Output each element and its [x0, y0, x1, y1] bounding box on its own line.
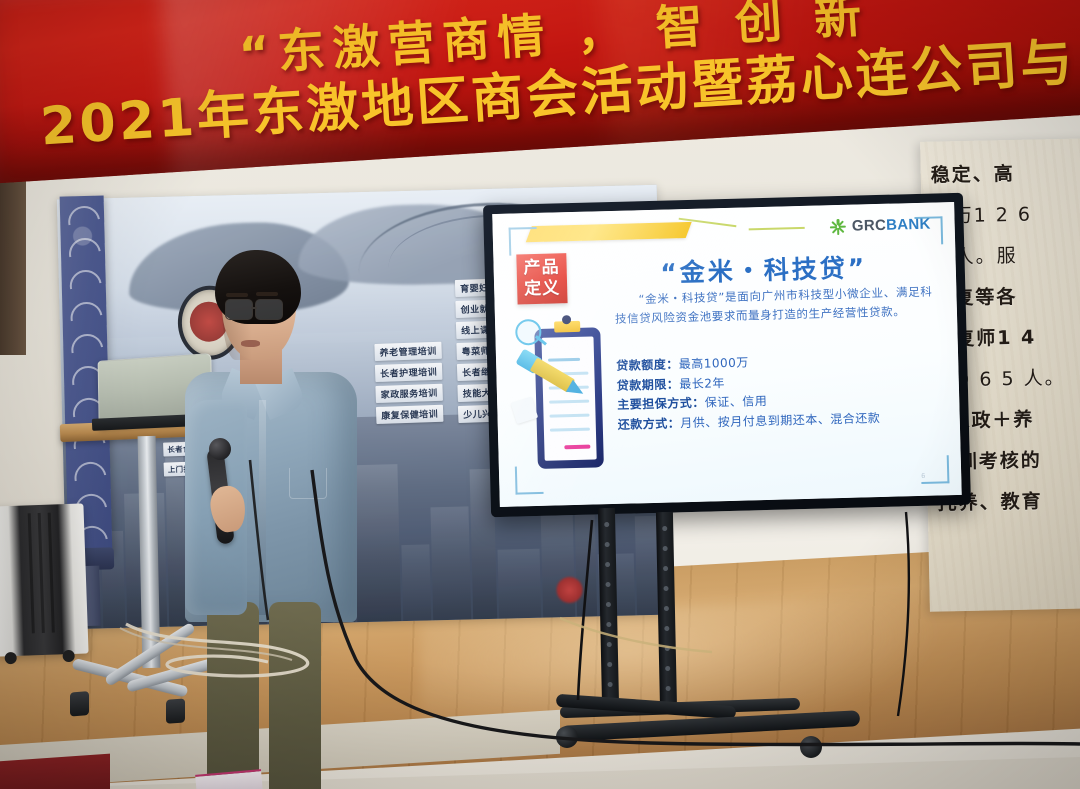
stand-post-hole: [662, 526, 667, 531]
stand-post-hole: [665, 646, 670, 651]
mural-program-tag: 家政服务培训: [375, 384, 443, 403]
logo-rule: [749, 227, 805, 230]
photo-scene: 稳定、高学历1 2 65 人。服康复等各康复师1 41 9 6 5 人。“家政＋…: [0, 0, 1080, 789]
badge-line-2: 定义: [524, 278, 561, 300]
speaker-shirt-pocket: [289, 468, 327, 499]
clipboard-paper: [541, 336, 596, 460]
slide-bullet-label: 贷款额度：: [616, 357, 679, 373]
slide-page-number: 6: [921, 473, 925, 480]
stand-post-hole: [663, 546, 668, 551]
speaker-shirt-placket: [259, 400, 266, 615]
radiator-heater: [0, 503, 89, 656]
grcbank-logo: GRCBANK: [830, 216, 931, 236]
mural-building: [430, 506, 471, 620]
stand-post-hole: [605, 582, 610, 587]
stand-post-hole: [608, 682, 613, 687]
slide-bullet-value: 保证、信用: [705, 394, 768, 410]
speaker-legs: [207, 602, 337, 789]
speaker-glasses-left: [225, 299, 253, 320]
stand-post-hole: [607, 642, 612, 647]
stand-post-hole: [605, 562, 610, 567]
mural-program-tag: 康复保健培训: [376, 405, 444, 424]
speaker-glasses-bridge: [251, 307, 257, 309]
slide-bullet-label: 主要担保方式：: [617, 396, 705, 412]
slide: GRCBANK 产品 定义: [492, 202, 962, 507]
speaker-mouth: [241, 340, 260, 347]
badge-line-1: 产品: [523, 257, 560, 279]
clipboard-illustration: [509, 311, 617, 486]
slide-yellow-ribbon: [526, 222, 692, 242]
product-definition-badge: 产品 定义: [516, 253, 567, 304]
logo-text-bank: BANK: [886, 216, 931, 234]
stand-post-hole: [606, 602, 611, 607]
mural-building: [353, 464, 401, 622]
stand-post-hole: [665, 666, 670, 671]
stand-post-hole: [664, 626, 669, 631]
tv-stand-wheel-right: [800, 736, 822, 758]
poster-line: 稳定、高: [930, 152, 1080, 196]
stand-post-hole: [663, 586, 668, 591]
starburst-icon: [830, 218, 847, 235]
slide-bullet-value: 月供、按月付息到期还本、混合还款: [680, 411, 880, 430]
slide-bullet-list: 贷款额度：最高1000万贷款期限：最长2年主要担保方式：保证、信用还款方式：月供…: [616, 348, 948, 435]
stand-post-hole: [663, 566, 668, 571]
tv-stand-wheel-left: [556, 726, 578, 748]
mural-building: [165, 455, 187, 626]
slide-bullet-label: 贷款期限：: [617, 377, 680, 393]
stand-post-hole: [607, 662, 612, 667]
stand-post-hole: [664, 606, 669, 611]
stand-post-hole: [666, 686, 671, 691]
slide-corner-top-left: [509, 227, 538, 256]
presentation-display: GRCBANK 产品 定义: [483, 193, 971, 517]
logo-text-grc: GRC: [852, 217, 887, 235]
paper-scrap: [511, 397, 539, 425]
tv-screen[interactable]: GRCBANK 产品 定义: [492, 202, 962, 507]
mural-program-tag: 长者护理培训: [375, 363, 443, 382]
grcbank-wordmark: GRCBANK: [852, 216, 931, 235]
mural-program-tag: 养老管理培训: [374, 342, 442, 361]
slide-paragraph: “金米・科技贷”是面向广州市科技型小微企业、满足科技信贷风险资金池要求而量身打造…: [614, 283, 933, 329]
slide-bullet-value: 最高1000万: [679, 355, 749, 371]
stand-post-hole: [604, 522, 609, 527]
speaker-glasses-right: [255, 299, 283, 320]
slide-bullet-value: 最长2年: [679, 376, 725, 391]
stand-post-hole: [605, 542, 610, 547]
speaker-person: [185, 250, 360, 720]
stand-post-hole: [606, 622, 611, 627]
mural-building: [401, 544, 431, 621]
mural-building: [498, 549, 542, 619]
slide-bullet-label: 还款方式：: [618, 416, 681, 432]
